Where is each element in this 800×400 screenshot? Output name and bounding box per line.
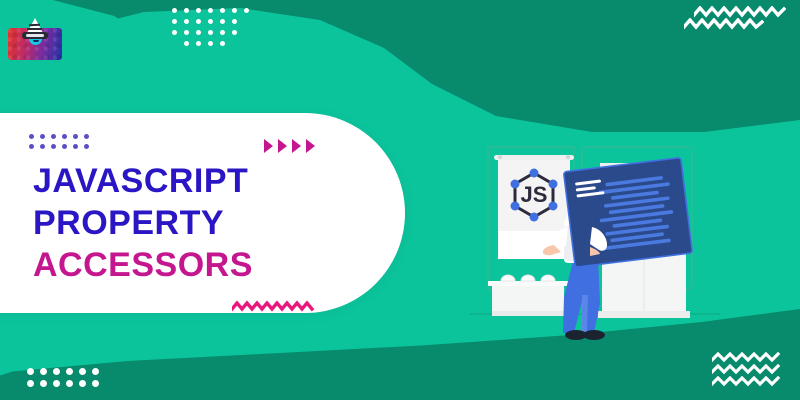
zigzag-top-right-2 <box>684 18 764 30</box>
dot-grid-accent <box>29 134 95 154</box>
zigzag-bottom-right-2 <box>712 364 782 375</box>
dot-grid-top <box>172 8 256 52</box>
chevron-right-icon <box>264 139 273 153</box>
chevron-group-icon <box>264 139 315 153</box>
zigzag-bottom-right-1 <box>712 352 782 363</box>
dot-grid-bottom <box>27 368 105 392</box>
logo-hat-icon <box>22 18 48 40</box>
banner-root: JAVASCRIPT PROPERTY ACCESSORS <box>0 0 800 400</box>
svg-text:JS: JS <box>521 182 548 207</box>
page-title: JAVASCRIPT PROPERTY ACCESSORS <box>33 164 253 282</box>
chevron-right-icon <box>278 139 287 153</box>
chevron-right-icon <box>292 139 301 153</box>
title-line-3: ACCESSORS <box>33 248 253 282</box>
title-line-1: JAVASCRIPT <box>33 164 253 198</box>
brand-logo[interactable] <box>8 18 62 60</box>
zigzag-top-right-1 <box>694 6 786 18</box>
zigzag-bottom-right-3 <box>712 376 782 387</box>
title-line-2: PROPERTY <box>33 206 253 240</box>
hero-illustration: JS <box>470 135 720 350</box>
chevron-right-icon <box>306 139 315 153</box>
zigzag-accent <box>232 300 316 312</box>
